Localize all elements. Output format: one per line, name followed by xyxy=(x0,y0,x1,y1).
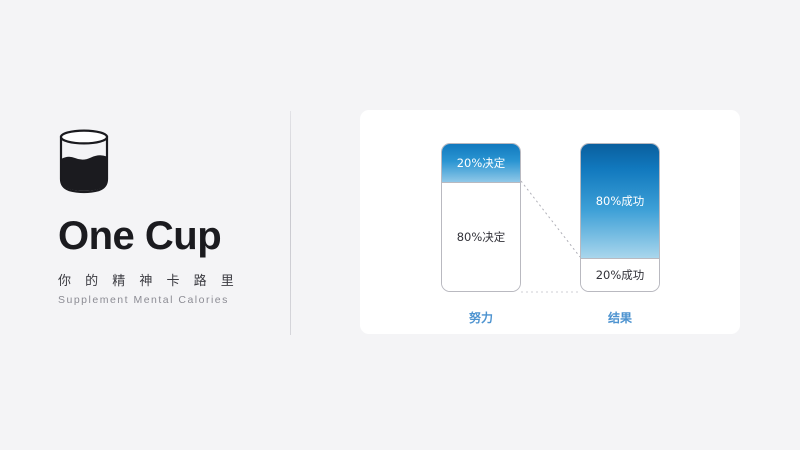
brand-subtitle-cn: 你 的 精 神 卡 路 里 xyxy=(58,270,273,289)
brand-subtitle-en: Supplement Mental Calories xyxy=(58,294,273,306)
stacked-bar-result[interactable]: 80%成功 20%成功 xyxy=(580,143,660,292)
stacked-bar-chart: 20%决定 80%决定 努力 80%成功 20%成功 结果 xyxy=(360,110,740,334)
glass-cup-icon xyxy=(58,128,273,194)
brand-panel: One Cup 你 的 精 神 卡 路 里 Supplement Mental … xyxy=(58,128,273,306)
vertical-divider xyxy=(290,111,291,335)
stacked-bar-effort[interactable]: 20%决定 80%决定 xyxy=(441,143,521,292)
bar-segment-effort-top: 20%决定 xyxy=(442,144,520,182)
bar-caption-result: 结果 xyxy=(580,309,660,326)
glass-cup-icon-svg xyxy=(58,128,110,194)
bar-column-effort: 20%决定 80%决定 努力 xyxy=(441,143,521,326)
bar-segment-effort-bottom: 80%决定 xyxy=(442,182,520,291)
bar-caption-effort: 努力 xyxy=(441,309,521,326)
diagonal-connector-line xyxy=(521,181,580,257)
chart-card: 20%决定 80%决定 努力 80%成功 20%成功 结果 xyxy=(360,110,740,334)
bar-segment-result-top: 80%成功 xyxy=(581,144,659,258)
bar-segment-result-bottom: 20%成功 xyxy=(581,258,659,291)
page-title: One Cup xyxy=(58,216,273,256)
bar-column-result: 80%成功 20%成功 结果 xyxy=(580,143,660,326)
connector-lines xyxy=(360,110,740,334)
